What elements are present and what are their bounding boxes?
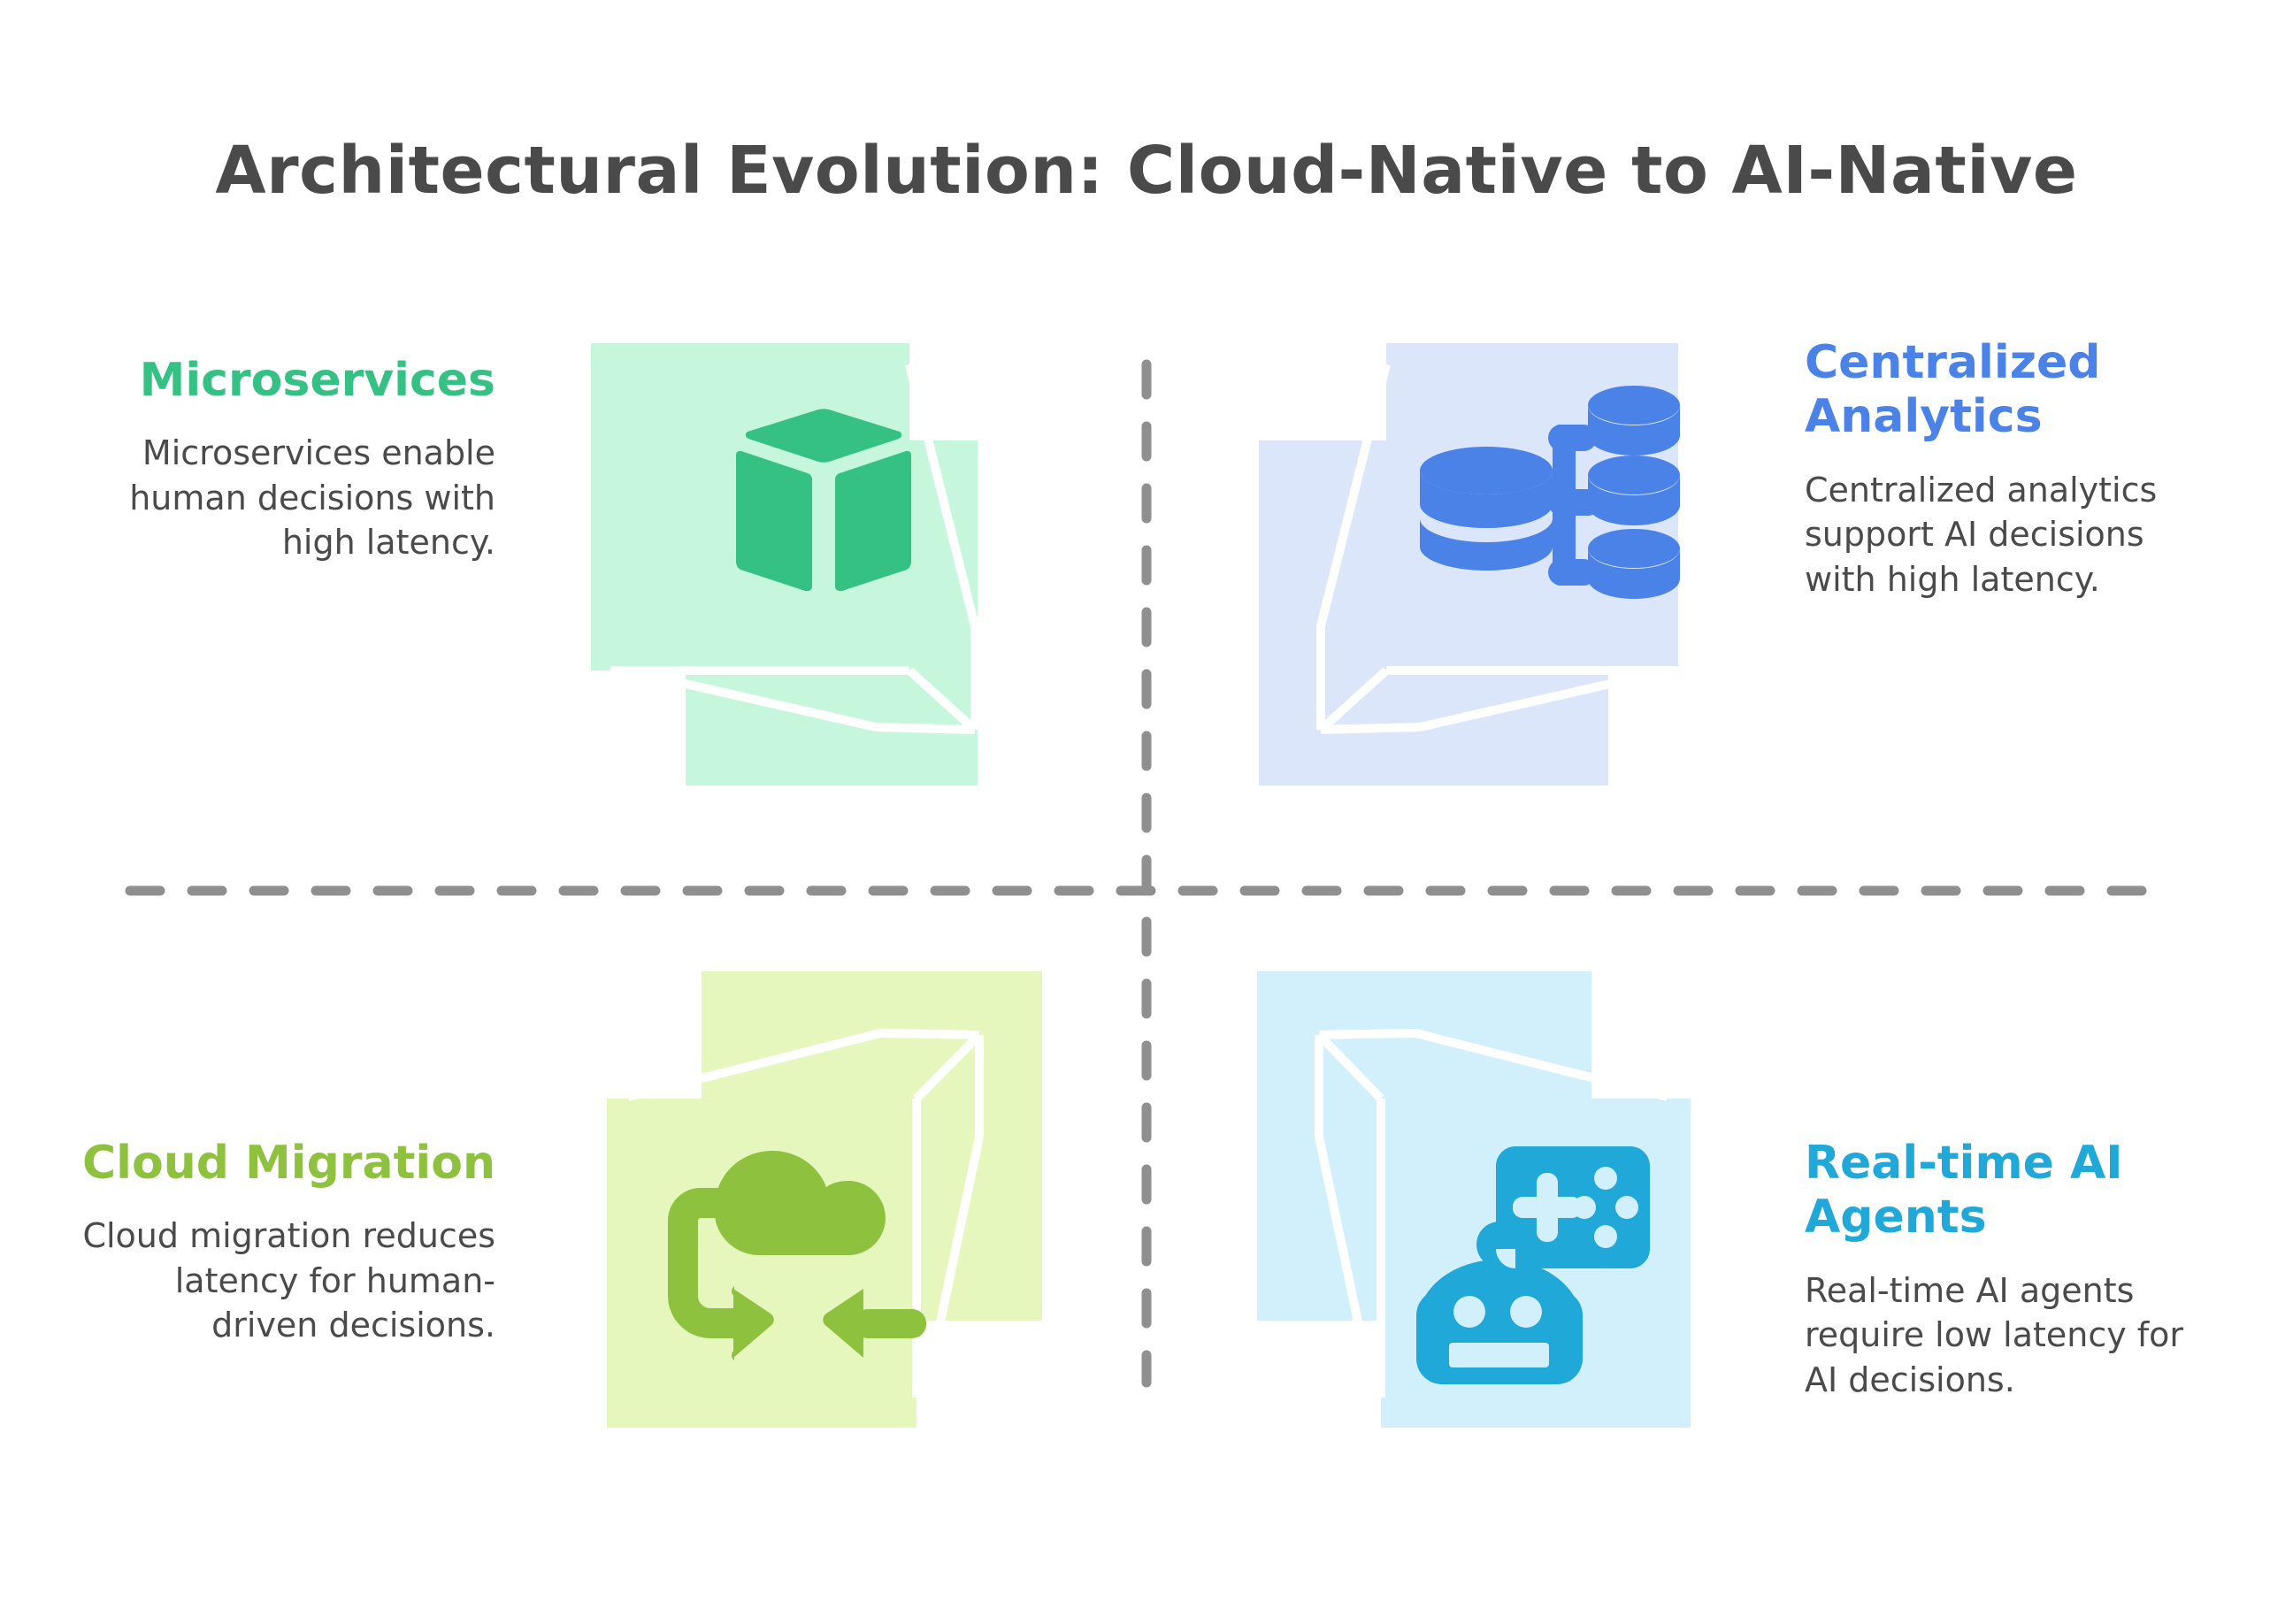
quadrant-microservices: Microservices Microservices enable human… [80,327,1123,831]
page-title: Architectural Evolution: Cloud-Native to… [0,133,2293,209]
cloud-migration-scene [584,955,1062,1433]
centralized-analytics-graphic [1168,327,1805,805]
realtime-ai-agents-description: Real-time AI agents require low latency … [1805,1268,2220,1403]
microservices-graphic [495,327,1123,805]
centralized-analytics-scene [1234,327,1712,805]
microservices-text-block: Microservices Microservices enable human… [80,327,495,565]
centralized-analytics-text-block: Centralized Analytics Centralized analyt… [1805,327,2220,601]
cloud-migration-heading: Cloud Migration [80,1137,495,1191]
centralized-analytics-description: Centralized analytics support AI decisio… [1805,468,2220,602]
realtime-ai-agents-heading: Real-time AI Agents [1805,1137,2220,1245]
centralized-analytics-heading: Centralized Analytics [1805,336,2220,445]
realtime-ai-agents-scene [1234,955,1712,1433]
microservices-heading: Microservices [80,354,495,408]
quadrant-cloud-migration: Cloud Migration Cloud migration reduces … [80,955,1123,1486]
horizontal-dashed-divider [124,885,2169,897]
cloud-migration-description: Cloud migration reduces latency for huma… [80,1214,495,1348]
microservices-description: Microservices enable human decisions wit… [80,431,495,565]
vertical-dashed-divider [1140,358,1153,1389]
cloud-migration-graphic [495,955,1123,1433]
quadrant-centralized-analytics: Centralized Analytics Centralized analyt… [1168,327,2220,831]
cloud-migration-text-block: Cloud Migration Cloud migration reduces … [80,955,495,1348]
microservices-scene [584,327,1062,805]
quadrant-realtime-ai-agents: Real-time AI Agents Real-time AI agents … [1168,955,2220,1486]
realtime-ai-agents-graphic [1168,955,1805,1433]
front-panel [607,1099,916,1428]
realtime-ai-agents-text-block: Real-time AI Agents Real-time AI agents … [1805,955,2220,1402]
